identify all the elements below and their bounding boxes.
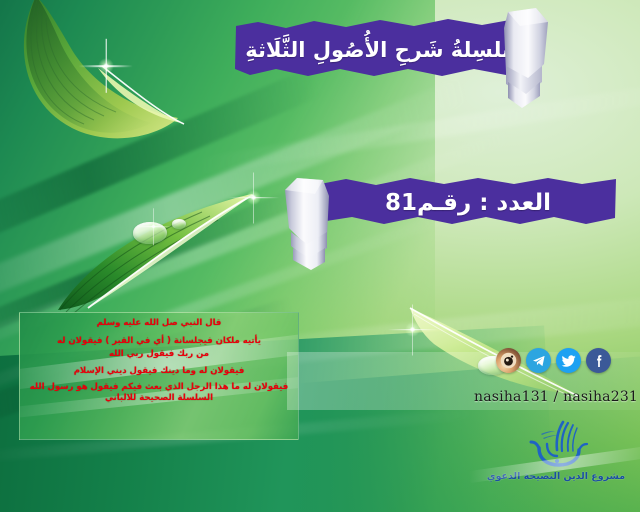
brand-logo: مشروع الدين النصيحة الدعوي xyxy=(478,418,634,504)
social-icons-row xyxy=(496,348,611,373)
logo-caption-text: مشروع الدين النصيحة الدعوي xyxy=(487,471,625,482)
hadith-text-box: قال النبي صل الله عليه وسلم يأتيه ملكان … xyxy=(19,312,299,440)
issue-banner-text: العدد : رقـم81 xyxy=(318,190,618,216)
hadith-line: قال النبي صل الله عليه وسلم xyxy=(26,318,292,329)
hadith-line: فيقولان له ما هذا الرجل الذي بعث فيكم في… xyxy=(26,382,292,393)
title-banner-text: سِلسِلةُ شَرحِ الأُصُولِ الثَّلَاثةِ xyxy=(234,38,534,62)
leaf-top-left xyxy=(6,0,196,160)
poster-canvas: سِلسِلةُ شَرحِ الأُصُولِ الثَّلَاثةِ xyxy=(0,0,640,512)
social-handle-text: nasiha131 / nasiha231 xyxy=(474,389,638,405)
hadith-line: فيقولان له وما دينك فيقول ديني الإسلام xyxy=(26,366,292,377)
instagram-icon[interactable] xyxy=(496,348,521,373)
title-scroll-banner: سِلسِلةُ شَرحِ الأُصُولِ الثَّلَاثةِ xyxy=(234,12,534,88)
water-droplet xyxy=(133,222,167,244)
scroll-roll-right-top xyxy=(498,6,560,110)
twitter-icon[interactable] xyxy=(556,348,581,373)
hadith-line: من ربك فيقول ربي الله xyxy=(26,349,292,360)
hadith-line: يأتيه ملكان فيجلسانة ( أي في القبر ) فيق… xyxy=(26,336,292,347)
telegram-icon[interactable] xyxy=(526,348,551,373)
scroll-roll-left-issue xyxy=(281,176,337,272)
leaf-mid-left xyxy=(52,186,267,316)
hadith-line: السلسلة الصحيحة للالباني xyxy=(26,393,292,404)
logo-calligraphy-mark xyxy=(517,418,595,470)
water-droplet xyxy=(172,219,186,229)
facebook-icon[interactable] xyxy=(586,348,611,373)
issue-scroll-banner: العدد : رقـم81 xyxy=(318,172,618,234)
